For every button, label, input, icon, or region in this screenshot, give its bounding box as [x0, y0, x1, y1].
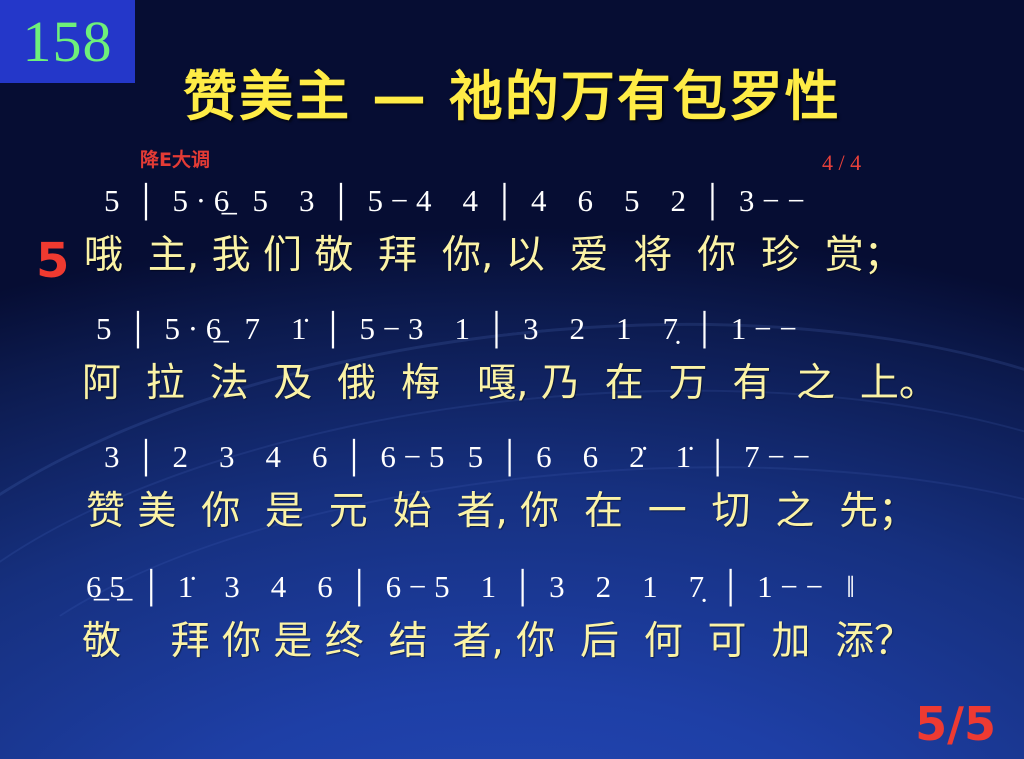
lyrics-line: 哦 主, 我 们 敬 拜 你, 以 爱 将 你 珍 赏；	[0, 226, 1024, 286]
key-signature-label: 降E大调	[140, 145, 210, 172]
lyrics-line: 赞 美 你 是 元 始 者, 你 在 一 切 之 先；	[0, 482, 1024, 542]
score-line: 3 │ 2 3 4 6 │ 6 − 5 5 │ 6 6 2̇ 1̇ │ 7 − …	[0, 432, 1024, 542]
notation-line: 5 │ 5 · 6̲ 5 3 │ 5 − 4 4 │ 4 6 5 2 │ 3 −…	[0, 176, 1024, 226]
notation-line: 5 │ 5 · 6̲ 7 1̇ │ 5 − 3 1 │ 3 2 1 7̣ │ 1…	[0, 304, 1024, 354]
time-signature-label: 4 / 4	[822, 150, 861, 176]
notation-line: 6̲ 5̲ │ 1̇ 3 4 6 │ 6 − 5 1 │ 3 2 1 7̣ │ …	[0, 562, 1024, 612]
page-number: 5/5	[915, 697, 996, 751]
page-title: 赞美主 — 祂的万有包罗性	[0, 52, 1024, 131]
lyrics-line: 敬 拜 你 是 终 结 者, 你 后 何 可 加 添？	[0, 612, 1024, 672]
score-line: 5 │ 5 · 6̲ 7 1̇ │ 5 − 3 1 │ 3 2 1 7̣ │ 1…	[0, 304, 1024, 414]
notation-line: 3 │ 2 3 4 6 │ 6 − 5 5 │ 6 6 2̇ 1̇ │ 7 − …	[0, 432, 1024, 482]
lyrics-line: 阿 拉 法 及 俄 梅 嘎, 乃 在 万 有 之 上。	[0, 354, 1024, 414]
score-line: 5 │ 5 · 6̲ 5 3 │ 5 − 4 4 │ 4 6 5 2 │ 3 −…	[0, 176, 1024, 286]
score-line: 6̲ 5̲ │ 1̇ 3 4 6 │ 6 − 5 1 │ 3 2 1 7̣ │ …	[0, 562, 1024, 672]
score-staves: 5 │ 5 · 6̲ 5 3 │ 5 − 4 4 │ 4 6 5 2 │ 3 −…	[0, 176, 1024, 680]
hymn-slide: 158 赞美主 — 祂的万有包罗性 降E大调 4 / 4 5 5 │ 5 · 6…	[0, 0, 1024, 759]
